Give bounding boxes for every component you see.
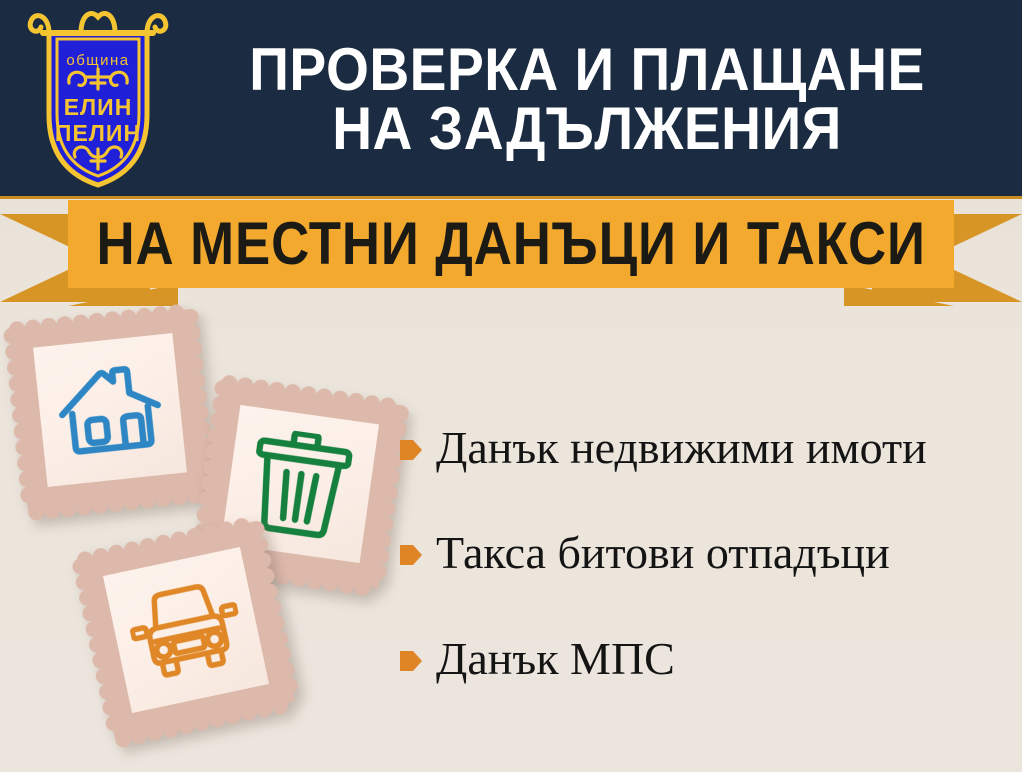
list-item[interactable]: Данък недвижими имоти bbox=[400, 424, 1010, 472]
svg-text:ПЕЛИН: ПЕЛИН bbox=[55, 120, 141, 146]
svg-text:община: община bbox=[66, 52, 129, 69]
poster-canvas: община ЕЛИН ПЕЛИН bbox=[0, 0, 1022, 772]
header-title-line2: НА ЗАДЪЛЖЕНИЯ bbox=[211, 100, 964, 158]
list-item[interactable]: Такса битови отпадъци bbox=[400, 529, 1010, 577]
svg-text:ЕЛИН: ЕЛИН bbox=[64, 94, 133, 120]
header-title-line1: ПРОВЕРКА И ПЛАЩАНЕ bbox=[211, 41, 964, 99]
trash-can-icon bbox=[245, 426, 355, 542]
ribbon-label: НА МЕСТНИ ДАНЪЦИ И ТАКСИ bbox=[96, 214, 925, 274]
bullet-arrow-icon bbox=[400, 542, 422, 568]
stamp-paper bbox=[33, 333, 187, 487]
header-banner: община ЕЛИН ПЕЛИН bbox=[0, 0, 1022, 199]
stamp-card-property bbox=[9, 309, 211, 511]
bullet-arrow-icon bbox=[400, 437, 422, 463]
shield-crest-icon: община ЕЛИН ПЕЛИН bbox=[23, 7, 173, 193]
car-icon bbox=[123, 575, 249, 686]
list-item-label: Данък МПС bbox=[436, 635, 675, 683]
header-title: ПРОВЕРКА И ПЛАЩАНЕ НА ЗАДЪЛЖЕНИЯ bbox=[178, 41, 1022, 157]
house-icon bbox=[51, 355, 169, 466]
obligations-list: Данък недвижими имоти Такса битови отпад… bbox=[400, 424, 1010, 740]
municipality-crest: община ЕЛИН ПЕЛИН bbox=[18, 5, 178, 195]
stamp-card-vehicle bbox=[77, 521, 295, 739]
list-item-label: Данък недвижими имоти bbox=[436, 424, 927, 472]
stamp-paper bbox=[103, 547, 269, 713]
subtitle-ribbon: НА МЕСТНИ ДАНЪЦИ И ТАКСИ bbox=[0, 198, 1022, 310]
list-item-label: Такса битови отпадъци bbox=[436, 529, 890, 577]
list-item[interactable]: Данък МПС bbox=[400, 635, 1010, 683]
bullet-arrow-icon bbox=[400, 648, 422, 674]
ribbon-body: НА МЕСТНИ ДАНЪЦИ И ТАКСИ bbox=[68, 200, 954, 288]
